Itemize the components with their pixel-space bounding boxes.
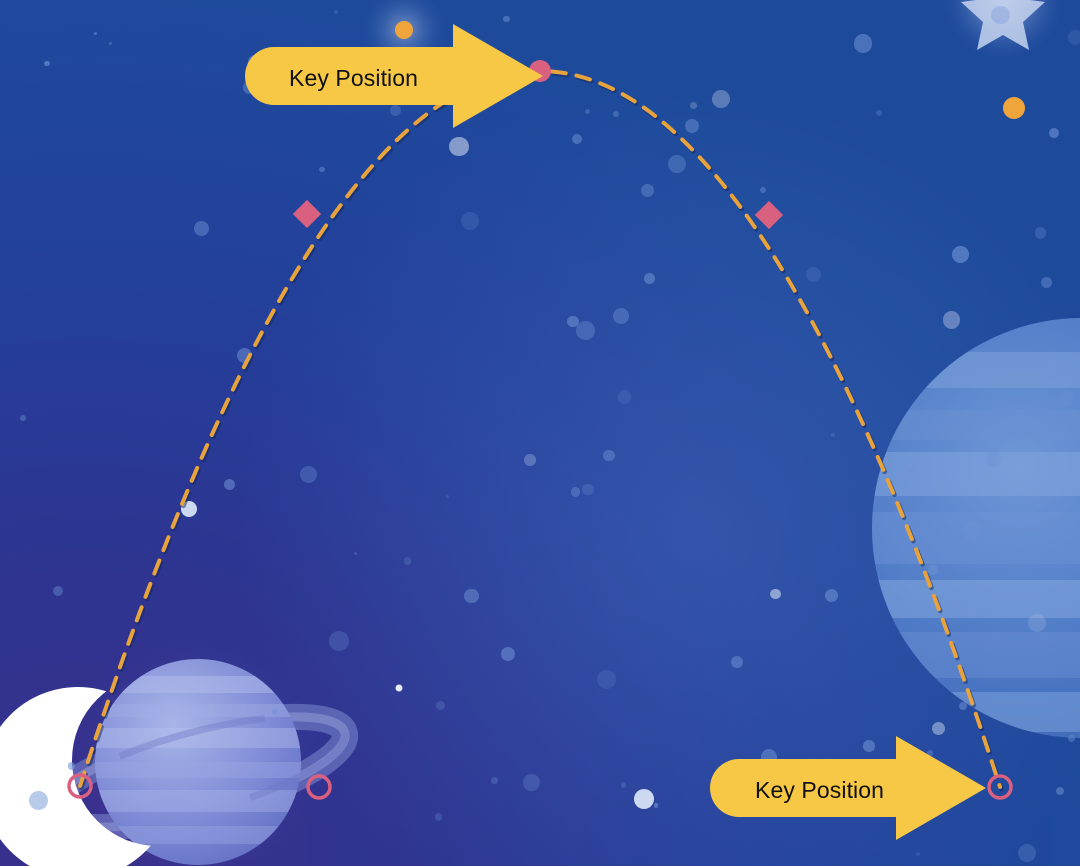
key-position-arrow-bottom[interactable]: Key Position	[710, 734, 988, 842]
key-position-arrow-top[interactable]: Key Position	[245, 22, 545, 130]
reference-marker	[308, 776, 330, 798]
key-position-label-top: Key Position	[289, 65, 418, 92]
marker-group	[69, 60, 1011, 798]
space-scene: Key Position Key Position	[0, 0, 1080, 866]
descent-diamond	[755, 201, 783, 229]
key-position-label-bottom: Key Position	[755, 777, 884, 804]
ascent-diamond	[293, 200, 321, 228]
